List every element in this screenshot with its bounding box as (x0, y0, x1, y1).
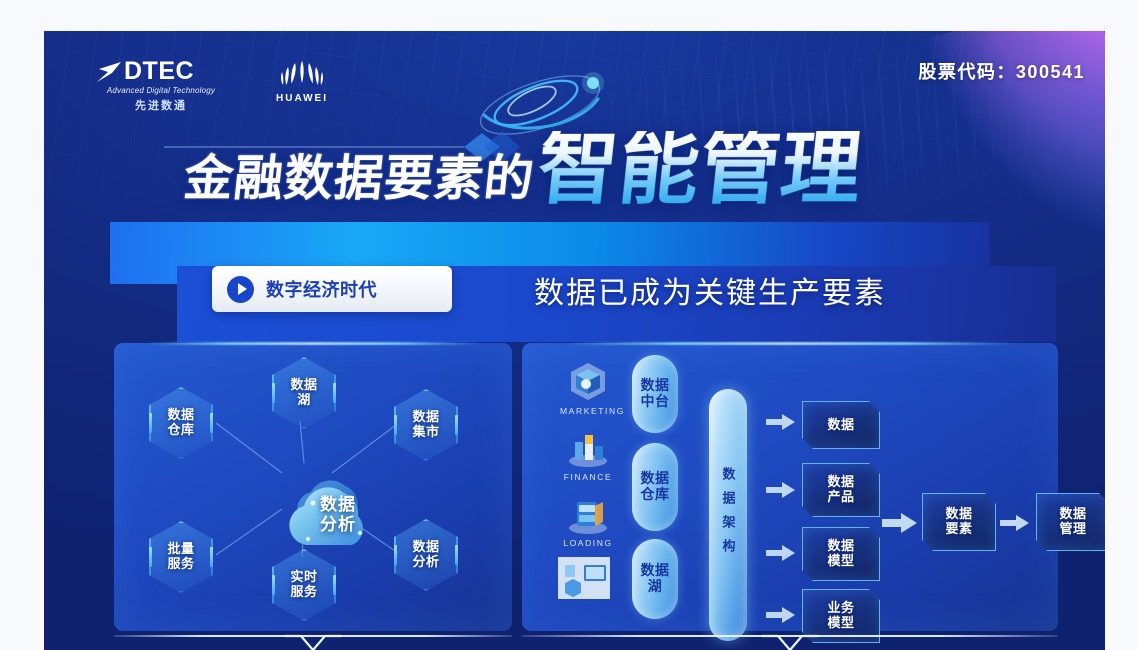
finance-chart-icon (560, 425, 616, 471)
source-caption: MARKETING (560, 406, 616, 416)
node-label-line1: 数据 (412, 539, 439, 554)
dtec-wordmark: DTEC (124, 59, 194, 84)
panel-top-glow (565, 342, 1015, 345)
node-label-line1: 实时 (290, 569, 317, 584)
node-data-warehouse[interactable]: 数据 仓库 (149, 387, 213, 459)
node-label-line1: 数据 (167, 407, 194, 422)
title-part-1: 金融数据要素的 (181, 154, 537, 207)
source-finance[interactable]: FINANCE (560, 425, 616, 482)
left-panel-footer (114, 631, 512, 650)
section-tag-label: 数字经济时代 (266, 276, 377, 302)
right-panel-footer (522, 631, 1058, 650)
cloud-label-line1: 数据 (320, 495, 356, 515)
output-label-line1: 数据 (827, 474, 854, 489)
node-batch-service[interactable]: 批量 服务 (149, 521, 213, 593)
source-caption: FINANCE (560, 472, 616, 482)
output-label-line1: 业务 (827, 600, 854, 615)
node-data-analysis[interactable]: 数据 分析 (394, 519, 458, 591)
huawei-petal-logo-icon (265, 59, 339, 89)
output-label-line2: 模型 (827, 553, 854, 568)
arrow-to-data-governance (1000, 514, 1030, 532)
stage-label-line2: 管理 (1059, 521, 1086, 536)
section-tag[interactable]: 数字经济时代 (212, 266, 452, 312)
arrow-to-output-1 (766, 413, 796, 431)
marketing-cube-icon (560, 359, 616, 405)
stage-label-line1: 数据 (1059, 506, 1086, 521)
stage-label-line2: 要素 (945, 521, 972, 536)
node-label-line2: 服务 (290, 584, 317, 599)
dtec-chinese-name: 先进数通 (95, 97, 227, 113)
platform-data-warehouse[interactable]: 数据 仓库 (632, 443, 678, 531)
play-icon (227, 276, 254, 303)
slide-frame: DTEC Advanced Digital Technology 先进数通 (44, 31, 1105, 650)
data-architecture-capsule[interactable]: 数据架构 (709, 389, 747, 641)
arrow-to-data-element (882, 512, 918, 534)
section-banner: 数字经济时代 数据已成为关键生产要素 (110, 222, 1056, 344)
source-devices[interactable] (556, 555, 612, 602)
stock-code: 股票代码：300541 (918, 58, 1085, 84)
node-label-line2: 湖 (297, 392, 311, 407)
output-data[interactable]: 数据 (802, 401, 880, 449)
stage-data-element[interactable]: 数据 要素 (922, 493, 996, 551)
source-caption: LOADING (560, 538, 616, 548)
output-label-line1: 数据 (827, 538, 854, 553)
cloud-label-line2: 分析 (320, 515, 356, 535)
source-loading[interactable]: LOADING (560, 491, 616, 548)
arrow-to-output-2 (766, 481, 796, 499)
node-label-line2: 集市 (412, 424, 439, 439)
loading-server-icon (560, 491, 616, 537)
node-label-line2: 仓库 (167, 422, 194, 437)
data-architecture-label: 数据架构 (722, 467, 735, 563)
platform-label-line1: 数据 (641, 377, 670, 393)
stage-data-governance[interactable]: 数据 管理 (1036, 493, 1105, 551)
dtec-tagline: Advanced Digital Technology (95, 86, 227, 95)
output-label-line2: 模型 (827, 615, 854, 630)
arrow-to-output-4 (766, 606, 796, 624)
platform-data-midend[interactable]: 数据 中台 (632, 355, 678, 433)
node-label-line2: 服务 (167, 556, 194, 571)
title-part-2: 智能管理 (534, 131, 866, 207)
source-marketing[interactable]: MARKETING (560, 359, 616, 416)
huawei-wordmark: HUAWEI (265, 93, 339, 104)
stage-label-line1: 数据 (945, 506, 972, 521)
node-label-line1: 批量 (167, 541, 194, 556)
node-label-line1: 数据 (412, 409, 439, 424)
output-data-product[interactable]: 数据 产品 (802, 463, 880, 517)
platform-label-line1: 数据 (641, 470, 670, 486)
node-data-lake[interactable]: 数据 湖 (272, 357, 336, 429)
output-data-model[interactable]: 数据 模型 (802, 527, 880, 581)
platform-data-lake[interactable]: 数据 湖 (632, 539, 678, 619)
node-label-line2: 分析 (412, 554, 439, 569)
platform-label-line2: 湖 (648, 578, 663, 594)
dtec-logo: DTEC Advanced Digital Technology 先进数通 (95, 59, 227, 113)
chevron-down-icon[interactable] (760, 631, 820, 650)
platform-label-line1: 数据 (641, 562, 670, 578)
chevron-down-icon[interactable] (283, 631, 343, 650)
slide-canvas: DTEC Advanced Digital Technology 先进数通 (0, 0, 1137, 650)
huawei-logo: HUAWEI (265, 59, 339, 104)
dtec-arrow-logo-icon (95, 61, 122, 83)
arrow-to-output-3 (766, 544, 796, 562)
node-data-mart[interactable]: 数据 集市 (394, 389, 458, 461)
platform-label-line2: 中台 (641, 393, 670, 409)
logo-group: DTEC Advanced Digital Technology 先进数通 (95, 59, 339, 113)
output-label-line1: 数据 (827, 417, 854, 432)
node-label-line1: 数据 (290, 377, 317, 392)
page-title: 金融数据要素的 智能管理 (184, 131, 862, 207)
cloud-icon[interactable]: 数据 分析 (272, 469, 394, 561)
output-label-line2: 产品 (827, 489, 854, 504)
devices-icon (556, 555, 612, 601)
platform-label-line2: 仓库 (641, 486, 670, 502)
banner-headline: 数据已成为关键生产要素 (534, 268, 886, 312)
